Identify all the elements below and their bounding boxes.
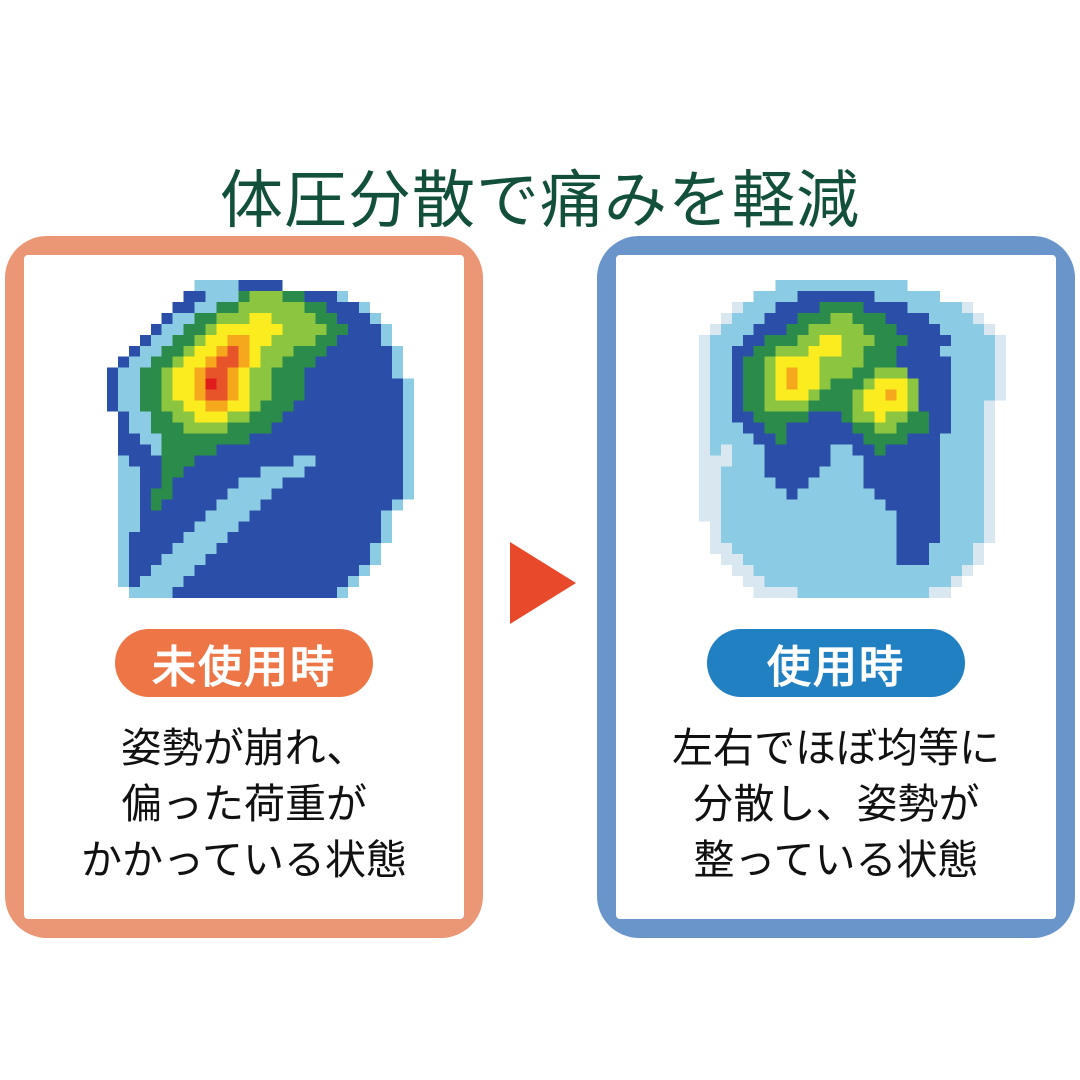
heatmap-svg xyxy=(61,269,427,609)
caption-before-line-1: 姿勢が崩れ、 xyxy=(24,721,464,777)
caption-before-line-2: 偏った荷重が xyxy=(24,777,464,833)
card-before: 未使用時 姿勢が崩れ、 偏った荷重が かかっている状態 xyxy=(5,236,483,938)
pressure-heatmap-after xyxy=(653,269,1019,609)
caption-after-line-3: 整っている状態 xyxy=(616,833,1056,889)
right-arrow-icon xyxy=(510,542,576,624)
caption-before: 姿勢が崩れ、 偏った荷重が かかっている状態 xyxy=(24,721,464,888)
caption-after: 左右でほぼ均等に 分散し、姿勢が 整っている状態 xyxy=(616,721,1056,888)
card-after: 使用時 左右でほぼ均等に 分散し、姿勢が 整っている状態 xyxy=(597,236,1075,938)
infographic-canvas: 体圧分散で痛みを軽減 未使用時 姿勢が崩れ、 偏った荷重が かかっている状態 使… xyxy=(0,0,1080,1080)
caption-before-line-3: かかっている状態 xyxy=(24,833,464,889)
caption-after-line-2: 分散し、姿勢が xyxy=(616,777,1056,833)
pressure-heatmap-before xyxy=(61,269,427,609)
heatmap-svg xyxy=(653,269,1019,609)
caption-after-line-1: 左右でほぼ均等に xyxy=(616,721,1056,777)
badge-after: 使用時 xyxy=(707,629,965,697)
card-before-body: 未使用時 姿勢が崩れ、 偏った荷重が かかっている状態 xyxy=(24,255,464,919)
card-after-body: 使用時 左右でほぼ均等に 分散し、姿勢が 整っている状態 xyxy=(616,255,1056,919)
page-title: 体圧分散で痛みを軽減 xyxy=(0,170,1080,233)
badge-before: 未使用時 xyxy=(115,629,373,697)
